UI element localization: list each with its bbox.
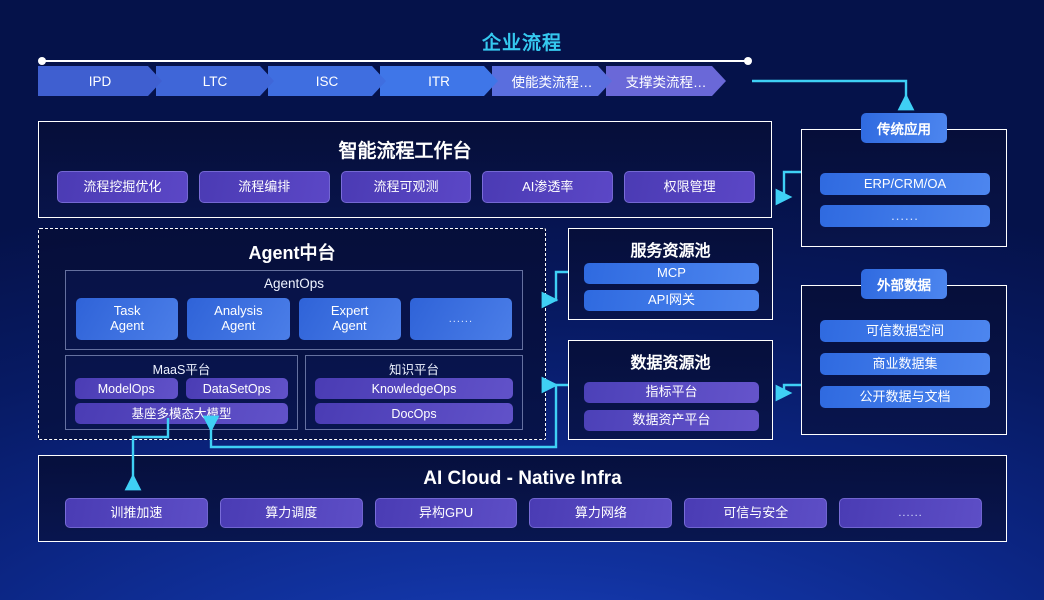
page-title: 企业流程 [0, 28, 1044, 55]
external-data-item[interactable]: 公开数据与文档 [820, 386, 990, 408]
knowledge-item[interactable]: KnowledgeOps [315, 378, 513, 399]
workbench-title: 智能流程工作台 [39, 136, 771, 163]
arrow-legacy-to-service-pool [778, 172, 801, 197]
process-chevron-label: 支撑类流程… [626, 71, 707, 91]
data-pool-panel: 数据资源池 指标平台 数据资产平台 [568, 340, 773, 440]
service-pool-panel: 服务资源池 MCP API网关 [568, 228, 773, 320]
data-pool-row: 指标平台 [584, 382, 759, 403]
agentops-item[interactable]: AnalysisAgent [187, 298, 289, 340]
process-chevron[interactable]: IPD [38, 66, 162, 96]
agentops-item[interactable]: TaskAgent [76, 298, 178, 340]
agent-platform-panel: Agent中台 AgentOps TaskAgentAnalysisAgentE… [38, 228, 546, 440]
service-pool-row: API网关 [584, 290, 759, 311]
maas-item[interactable]: 基座多模态大模型 [75, 403, 288, 424]
data-pool-title: 数据资源池 [569, 349, 772, 373]
legacy-apps-item[interactable]: ...... [820, 205, 990, 227]
process-chevron[interactable]: ITR [380, 66, 498, 96]
maas-box: MaaS平台 ModelOpsDataSetOps 基座多模态大模型 [65, 355, 298, 430]
infra-item[interactable]: 算力调度 [220, 498, 363, 528]
agentops-title: AgentOps [66, 276, 522, 291]
external-data-item[interactable]: 商业数据集 [820, 353, 990, 375]
service-pool-item[interactable]: MCP [584, 263, 759, 284]
infra-item[interactable]: 异构GPU [375, 498, 518, 528]
process-chevron-label: ITR [428, 74, 450, 89]
process-chevron-label: IPD [89, 74, 112, 89]
infra-item[interactable]: 算力网络 [529, 498, 672, 528]
process-chevron[interactable]: 支撑类流程… [606, 66, 726, 96]
service-pool-row: MCP [584, 263, 759, 284]
maas-row-2: 基座多模态大模型 [75, 403, 288, 424]
knowledge-item[interactable]: DocOps [315, 403, 513, 424]
external-data-row: 可信数据空间 [820, 320, 990, 342]
infra-item[interactable]: ...... [839, 498, 982, 528]
legacy-apps-row: ...... [820, 205, 990, 227]
external-data-row: 商业数据集 [820, 353, 990, 375]
maas-item[interactable]: DataSetOps [186, 378, 289, 399]
external-data-panel: 外部数据 可信数据空间 商业数据集 公开数据与文档 [801, 285, 1007, 435]
data-pool-item[interactable]: 指标平台 [584, 382, 759, 403]
process-chevron[interactable]: LTC [156, 66, 274, 96]
infra-item[interactable]: 可信与安全 [684, 498, 827, 528]
process-rail [38, 57, 752, 65]
legacy-apps-item[interactable]: ERP/CRM/OA [820, 173, 990, 195]
process-chevron[interactable]: ISC [268, 66, 386, 96]
arrow-process-to-legacy [752, 81, 906, 108]
legacy-apps-tag: 传统应用 [861, 113, 947, 143]
agent-platform-title: Agent中台 [39, 239, 545, 265]
rail-dot-right [744, 57, 752, 65]
arrow-service-pool-to-agent [544, 272, 568, 300]
maas-title: MaaS平台 [66, 359, 297, 378]
knowledge-row-1: KnowledgeOps [315, 378, 513, 399]
infra-title: AI Cloud - Native Infra [39, 468, 1006, 490]
workbench-item[interactable]: 流程编排 [199, 171, 330, 203]
process-chevron-label: 使能类流程… [512, 71, 593, 91]
agentops-box: AgentOps TaskAgentAnalysisAgentExpertAge… [65, 270, 523, 350]
external-data-row: 公开数据与文档 [820, 386, 990, 408]
arrow-external-to-data-pool [778, 385, 801, 393]
process-chevron[interactable]: 使能类流程… [492, 66, 612, 96]
legacy-apps-row: ERP/CRM/OA [820, 173, 990, 195]
external-data-item[interactable]: 可信数据空间 [820, 320, 990, 342]
workbench-item[interactable]: AI渗透率 [482, 171, 613, 203]
knowledge-title: 知识平台 [306, 359, 522, 378]
process-chevron-label: LTC [203, 74, 228, 89]
knowledge-box: 知识平台 KnowledgeOps DocOps [305, 355, 523, 430]
workbench-panel: 智能流程工作台 流程挖掘优化流程编排流程可观测AI渗透率权限管理 [38, 121, 772, 218]
data-pool-row: 数据资产平台 [584, 410, 759, 431]
knowledge-row-2: DocOps [315, 403, 513, 424]
infra-item[interactable]: 训推加速 [65, 498, 208, 528]
service-pool-item[interactable]: API网关 [584, 290, 759, 311]
diagram-canvas: 企业流程 IPDLTCISCITR使能类流程…支撑类流程… 智能流程工作台 流程… [0, 0, 1044, 600]
workbench-item[interactable]: 流程可观测 [341, 171, 472, 203]
service-pool-title: 服务资源池 [569, 237, 772, 261]
infra-item-row: 训推加速算力调度异构GPU算力网络可信与安全...... [65, 498, 982, 528]
external-data-tag: 外部数据 [861, 269, 947, 299]
workbench-item-row: 流程挖掘优化流程编排流程可观测AI渗透率权限管理 [57, 171, 755, 203]
maas-row-1: ModelOpsDataSetOps [75, 378, 288, 399]
agentops-item[interactable]: ...... [410, 298, 512, 340]
workbench-item[interactable]: 权限管理 [624, 171, 755, 203]
maas-item[interactable]: ModelOps [75, 378, 178, 399]
data-pool-item[interactable]: 数据资产平台 [584, 410, 759, 431]
process-chevron-label: ISC [316, 74, 339, 89]
infra-panel: AI Cloud - Native Infra 训推加速算力调度异构GPU算力网… [38, 455, 1007, 542]
workbench-item[interactable]: 流程挖掘优化 [57, 171, 188, 203]
agentops-item[interactable]: ExpertAgent [299, 298, 401, 340]
legacy-apps-panel: 传统应用 ERP/CRM/OA ...... [801, 129, 1007, 247]
process-chevron-bar: IPDLTCISCITR使能类流程…支撑类流程… [38, 66, 752, 96]
agentops-item-row: TaskAgentAnalysisAgentExpertAgent...... [76, 298, 512, 340]
rail-line [43, 60, 747, 62]
